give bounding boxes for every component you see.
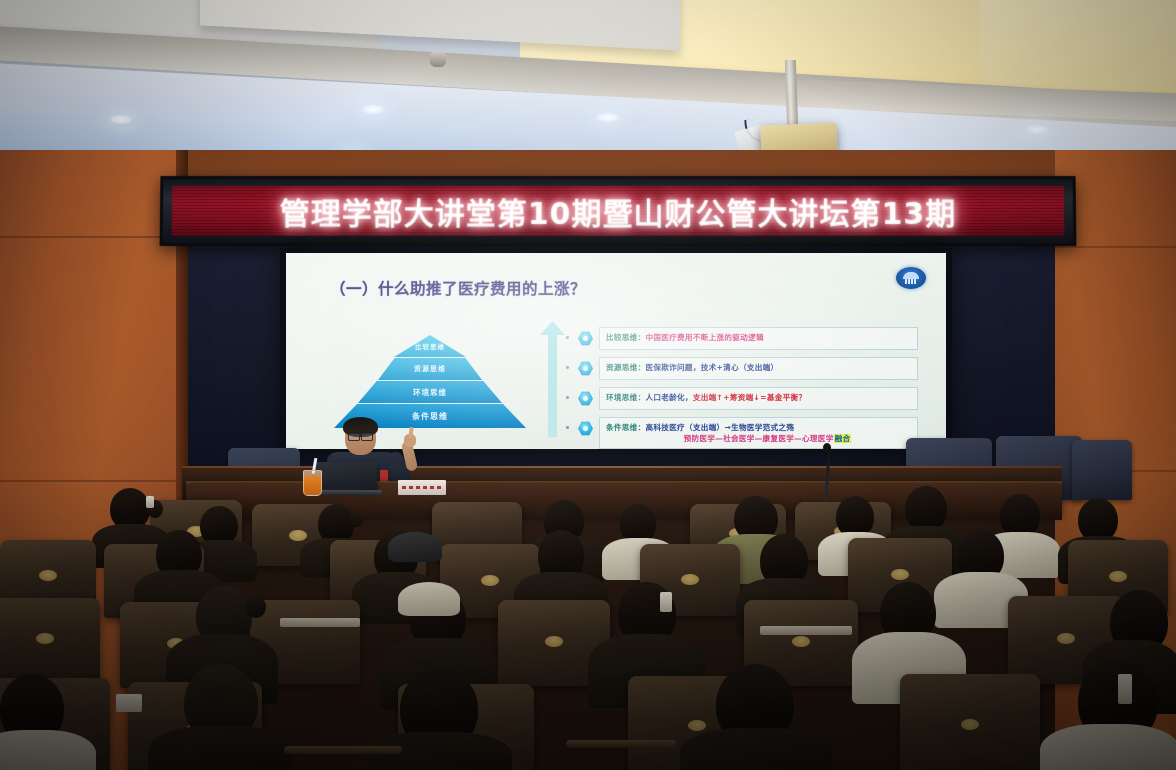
hair-clip <box>116 694 142 712</box>
writing-desk <box>760 626 852 635</box>
bullet-dot <box>566 366 569 369</box>
bullet-highlight: 融合 <box>834 434 852 443</box>
upward-arrow-shaft <box>548 331 557 437</box>
projection-screen: （一）什么助推了医疗费用的上涨？ 比较思维 资源思维 环境思维 条件思维 比较思… <box>286 253 946 449</box>
recessed-downlight <box>1024 124 1050 135</box>
hair-clip <box>1118 674 1132 704</box>
bullet-dot <box>566 426 569 429</box>
bullet-label: 环境思维： <box>606 393 645 402</box>
bullet-subline: 预防医学—社会医学—康复医学—心理医学 <box>684 434 834 443</box>
attendee-cap <box>388 532 442 562</box>
bullet-body: 中国医疗费用不断上涨的驱动逻辑 <box>645 333 763 342</box>
attendee-shoulders <box>148 726 292 770</box>
bullet-body: 医保欺诈问题，技术+清心（支出端） <box>645 363 778 372</box>
bullet-label: 资源思维： <box>606 363 645 372</box>
ceiling-warm-panel-right <box>980 0 1176 95</box>
slide-title: （一）什么助推了医疗费用的上涨？ <box>330 277 586 299</box>
bullet-text-box: 资源思维：医保欺诈问题，技术+清心（支出端） <box>599 357 918 380</box>
recessed-downlight <box>595 112 621 123</box>
speaker-glasses-icon <box>348 432 373 439</box>
led-banner-screen: 管理学部大讲堂第10期暨山财公管大讲坛第13期 <box>172 186 1065 236</box>
bullet-text-box: 比较思维：中国医疗费用不断上涨的驱动逻辑 <box>599 327 918 350</box>
hair-clip <box>146 496 154 508</box>
attendee-cap <box>398 582 460 616</box>
hexagon-bullet-icon <box>578 331 593 346</box>
attendee-shoulders <box>680 728 832 770</box>
slide-bullet-row: 环境思维：人口老龄化，支出端↑+筹资端↓=基金平衡？ <box>578 387 918 410</box>
recessed-downlight <box>108 114 134 125</box>
pyramid-tier-2: 资源思维 <box>378 358 482 380</box>
led-banner: 管理学部大讲堂第10期暨山财公管大讲坛第13期 <box>160 176 1077 246</box>
attendee-shoulders <box>0 730 96 770</box>
bullet-dot <box>566 396 569 399</box>
auditorium-seat <box>0 598 100 682</box>
recessed-downlight <box>360 104 386 115</box>
slide-bullet-row: 条件思维：高科技医疗（支出端）→生物医学范式之殇 预防医学—社会医学—康复医学—… <box>578 417 918 449</box>
slide-bullet-row: 比较思维：中国医疗费用不断上涨的驱动逻辑 <box>578 327 918 350</box>
slide-bullet-list: 比较思维：中国医疗费用不断上涨的驱动逻辑 资源思维：医保欺诈问题，技术+清心（支… <box>578 327 918 449</box>
seat-armrest <box>566 740 676 748</box>
microphone-head-icon <box>823 443 831 452</box>
university-emblem-icon <box>896 267 926 289</box>
lecture-hall-photo: 管理学部大讲堂第10期暨山财公管大讲坛第13期 （一）什么助推了医疗费用的上涨？… <box>0 0 1176 770</box>
hexagon-bullet-icon <box>578 421 593 436</box>
seat-armrest <box>284 746 402 754</box>
projection-screen-frame: （一）什么助推了医疗费用的上涨？ 比较思维 资源思维 环境思维 条件思维 比较思… <box>280 248 952 454</box>
bullet-text-box: 条件思维：高科技医疗（支出端）→生物医学范式之殇 预防医学—社会医学—康复医学—… <box>599 417 918 449</box>
pyramid-tier-3: 环境思维 <box>358 381 502 403</box>
pyramid-tier-1: 比较思维 <box>394 335 466 357</box>
bullet-text-box: 环境思维：人口老龄化，支出端↑+筹资端↓=基金平衡？ <box>599 387 918 410</box>
attendee-hair-bun <box>350 512 363 527</box>
hexagon-bullet-icon <box>578 361 593 376</box>
bullet-label: 条件思维： <box>606 423 645 432</box>
bullet-body-plain: 人口老龄化， <box>645 393 692 402</box>
smoke-detector-icon <box>430 52 446 67</box>
writing-desk <box>280 618 360 627</box>
bullet-label: 比较思维： <box>606 333 645 342</box>
led-banner-text: 管理学部大讲堂第10期暨山财公管大讲坛第13期 <box>280 189 957 233</box>
bullet-body-accent: 支出端↑+筹资端↓=基金平衡？ <box>693 393 806 402</box>
attendee-hair-bun <box>246 596 266 618</box>
seated-audience <box>0 478 1176 770</box>
auditorium-seat <box>900 674 1040 770</box>
slide-bullet-row: 资源思维：医保欺诈问题，技术+清心（支出端） <box>578 357 918 380</box>
attendee-shoulders <box>1040 724 1176 770</box>
hair-clip <box>660 592 672 612</box>
bullet-body: 高科技医疗（支出端）→生物医学范式之殇 <box>645 423 794 432</box>
bullet-dot <box>566 336 569 339</box>
hexagon-bullet-icon <box>578 391 593 406</box>
